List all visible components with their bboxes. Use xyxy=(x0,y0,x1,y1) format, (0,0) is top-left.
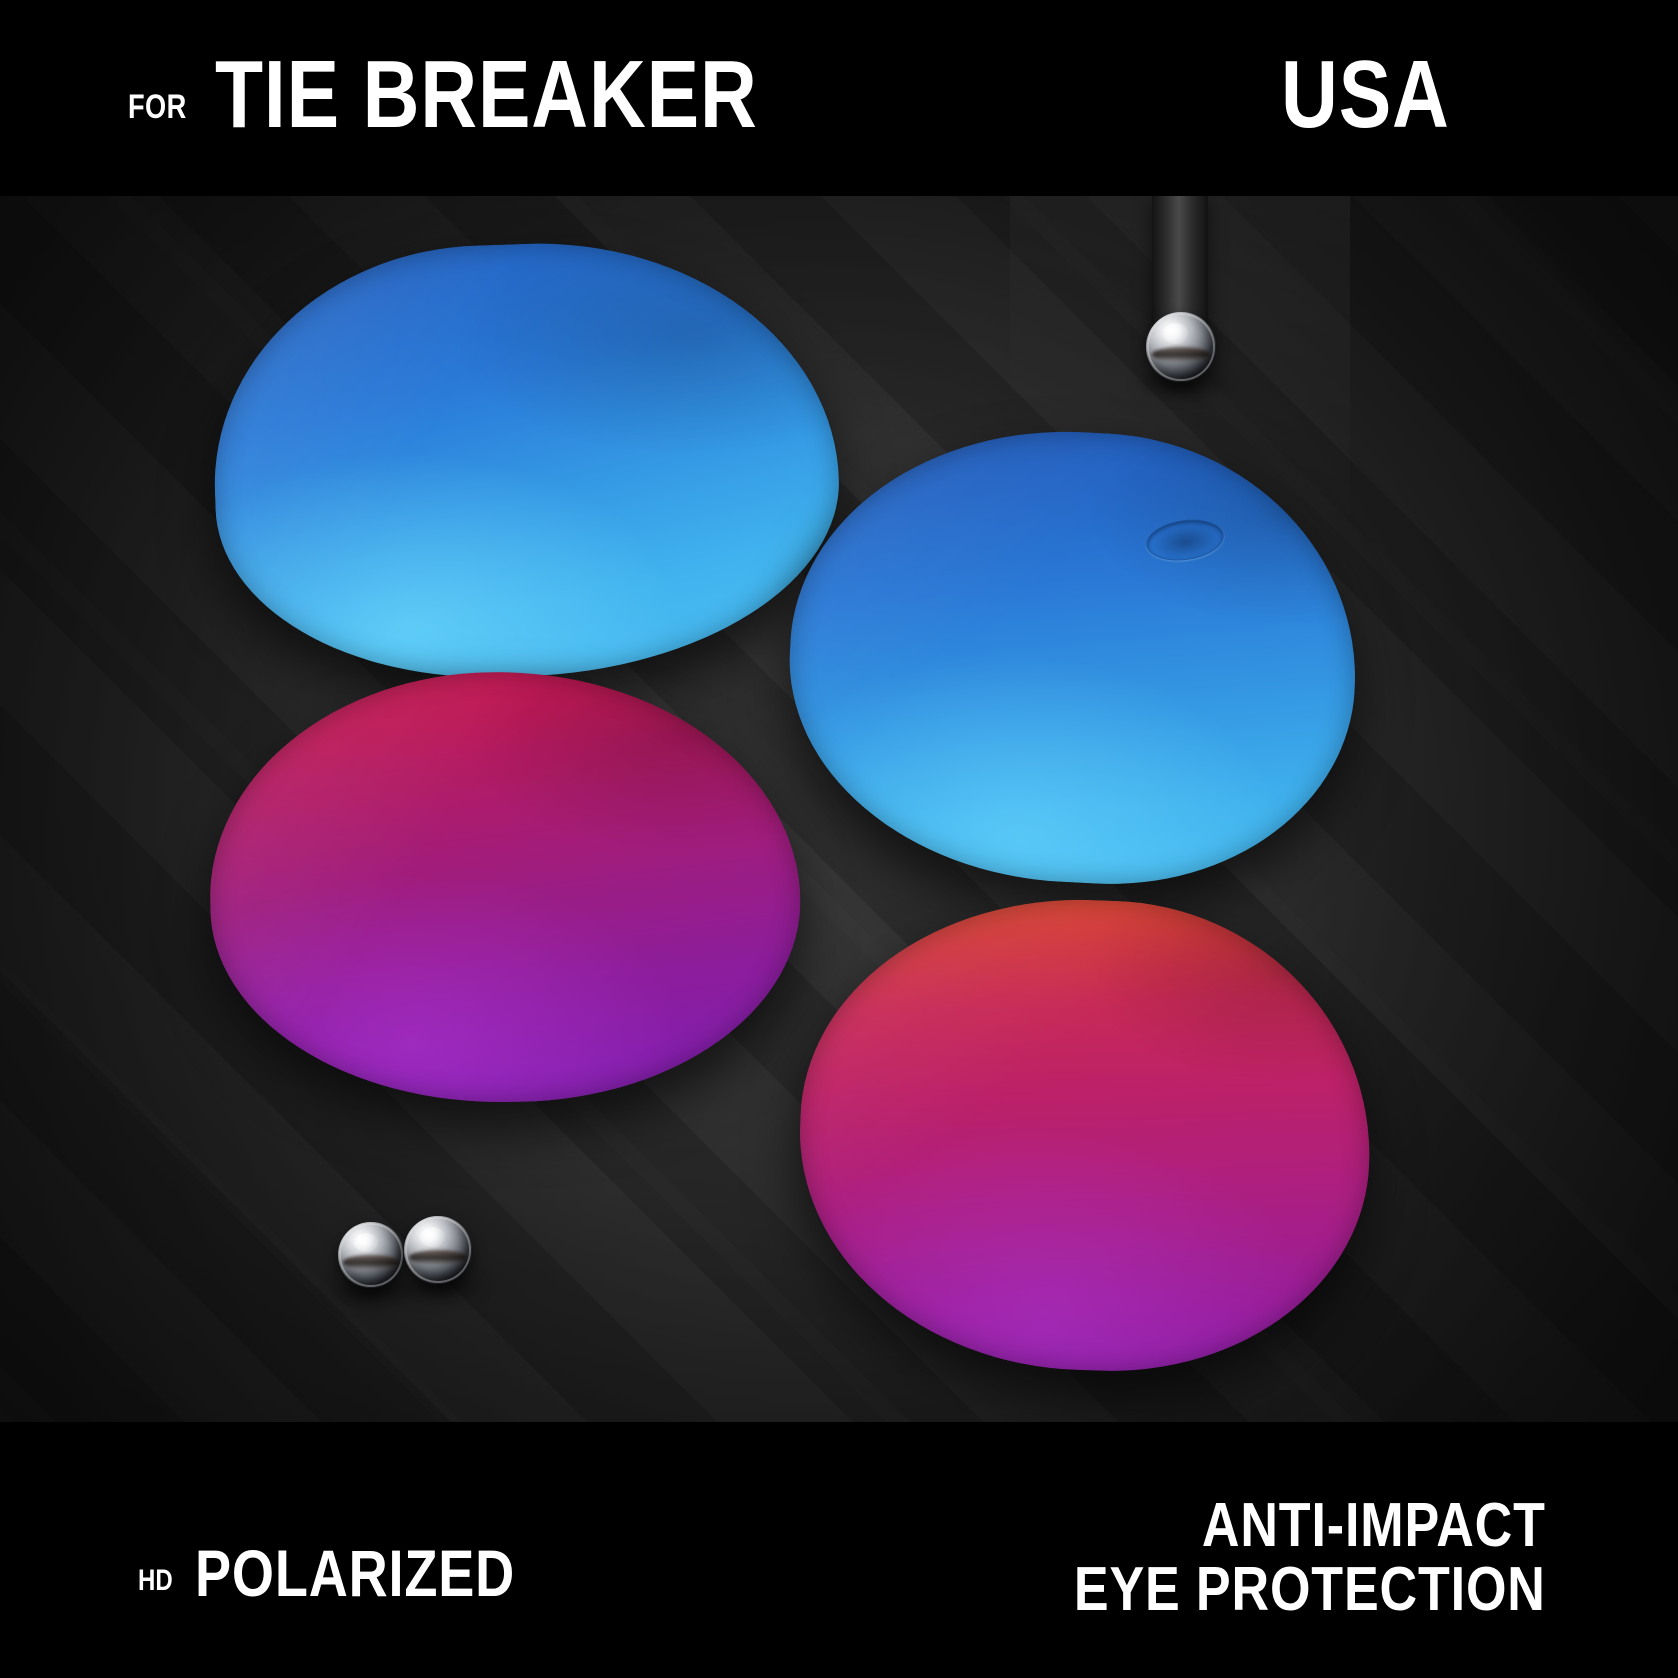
feature-line-1: ANTI-IMPACT xyxy=(1074,1494,1546,1558)
for-label: FOR xyxy=(128,90,187,124)
lens-purple-bottom-right xyxy=(792,890,1378,1380)
footer-bar: HD POLARIZED ANTI-IMPACT EYE PROTECTION xyxy=(0,1422,1678,1678)
hd-label: HD xyxy=(138,1566,173,1596)
product-image-canvas: FOR TIE BREAKER USA HD POLARIZED ANTI-IM… xyxy=(0,0,1678,1678)
origin-label: USA xyxy=(1281,52,1450,138)
lens-surface xyxy=(779,417,1368,896)
feature-line-2: EYE PROTECTION xyxy=(1074,1558,1546,1622)
header-bar: FOR TIE BREAKER USA xyxy=(0,0,1678,196)
steel-ball-icon-right xyxy=(404,1216,472,1284)
lens-surface xyxy=(792,890,1378,1380)
steel-ball-icon-left xyxy=(338,1222,404,1288)
steel-ball-icon-top xyxy=(1146,312,1216,382)
lens-blue-top-right xyxy=(779,417,1368,896)
lens-purple-bottom-left xyxy=(206,667,803,1107)
ball-rim xyxy=(405,1217,470,1282)
ball-rim xyxy=(339,1223,402,1286)
polarized-label: POLARIZED xyxy=(195,1543,515,1604)
footer-right-group: ANTI-IMPACT EYE PROTECTION xyxy=(984,1494,1546,1622)
header-left-group: FOR TIE BREAKER xyxy=(128,52,877,138)
lens-surface xyxy=(207,233,846,687)
lens-blue-top-left xyxy=(207,233,846,687)
ball-rim xyxy=(1147,313,1214,380)
page-title: TIE BREAKER xyxy=(215,52,758,138)
footer-left-group: HD POLARIZED xyxy=(138,1543,586,1604)
lens-surface xyxy=(206,667,803,1107)
